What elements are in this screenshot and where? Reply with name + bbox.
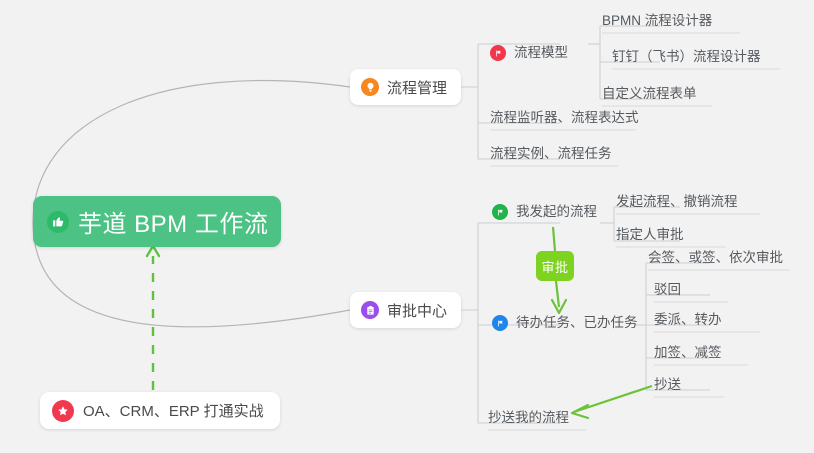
leaf-reject[interactable]: 驳回 [654,281,681,303]
leaf-label: 指定人审批 [616,226,684,244]
leaf-cc-to-me-processes[interactable]: 抄送我的流程 [488,409,569,431]
topic-label: 审批中心 [387,300,447,321]
thumbs-up-icon [47,211,69,233]
leaf-label: 抄送 [654,376,681,394]
root-node[interactable]: 芋道 BPM 工作流 [33,196,281,247]
leaf-add-remove-sign[interactable]: 加签、减签 [654,344,722,366]
leaf-process-model[interactable]: 流程模型 [490,44,568,66]
topic-node-approval-center[interactable]: 审批中心 [350,292,461,328]
leaf-label: 抄送我的流程 [488,409,569,427]
clipboard-icon [361,301,379,319]
leaf-label: 待办任务、已办任务 [516,314,638,332]
leaf-label: 委派、转办 [654,311,722,329]
leaf-label: 发起流程、撤销流程 [616,193,738,211]
leaf-designated-approver[interactable]: 指定人审批 [616,226,684,248]
flag-icon [492,315,508,331]
leaf-label: BPMN 流程设计器 [602,12,712,30]
cc-flow-arrow [572,386,652,418]
callout-label: OA、CRM、ERP 打通实战 [83,400,264,421]
topic-node-process-management[interactable]: 流程管理 [350,69,461,105]
flag-icon [492,204,508,220]
leaf-dingtalk-feishu-designer[interactable]: 钉钉（飞书）流程设计器 [612,48,761,70]
lightbulb-icon [361,78,379,96]
leaf-bpmn-designer[interactable]: BPMN 流程设计器 [602,12,712,34]
star-icon [52,400,74,422]
leaf-label: 钉钉（飞书）流程设计器 [612,48,761,66]
leaf-label: 驳回 [654,281,681,299]
leaf-delegate-transfer[interactable]: 委派、转办 [654,311,722,333]
root-label: 芋道 BPM 工作流 [78,204,268,239]
leaf-cc[interactable]: 抄送 [654,376,681,398]
leaf-label: 流程实例、流程任务 [490,145,612,163]
callout-node-integration[interactable]: OA、CRM、ERP 打通实战 [40,392,280,429]
leaf-process-listener-expression[interactable]: 流程监听器、流程表达式 [490,109,639,131]
topic-label: 流程管理 [387,77,447,98]
leaf-my-initiated-processes[interactable]: 我发起的流程 [492,203,597,225]
leaf-custom-form[interactable]: 自定义流程表单 [602,85,697,107]
leaf-label: 会签、或签、依次审批 [648,249,783,267]
flag-icon [490,45,506,61]
leaf-label: 加签、减签 [654,344,722,362]
leaf-start-cancel-process[interactable]: 发起流程、撤销流程 [616,193,738,215]
leaf-label: 自定义流程表单 [602,85,697,103]
mindmap-canvas: 芋道 BPM 工作流 流程管理 审批中心 [0,0,814,453]
leaf-label: 我发起的流程 [516,203,597,221]
leaf-label: 流程监听器、流程表达式 [490,109,639,127]
approval-badge: 审批 [536,251,574,281]
leaf-countersign-modes[interactable]: 会签、或签、依次审批 [648,249,783,271]
dashed-arrow-callout [147,246,159,390]
leaf-process-instance-task[interactable]: 流程实例、流程任务 [490,145,612,167]
leaf-todo-done-tasks[interactable]: 待办任务、已办任务 [492,314,638,336]
leaf-label: 流程模型 [514,44,568,62]
